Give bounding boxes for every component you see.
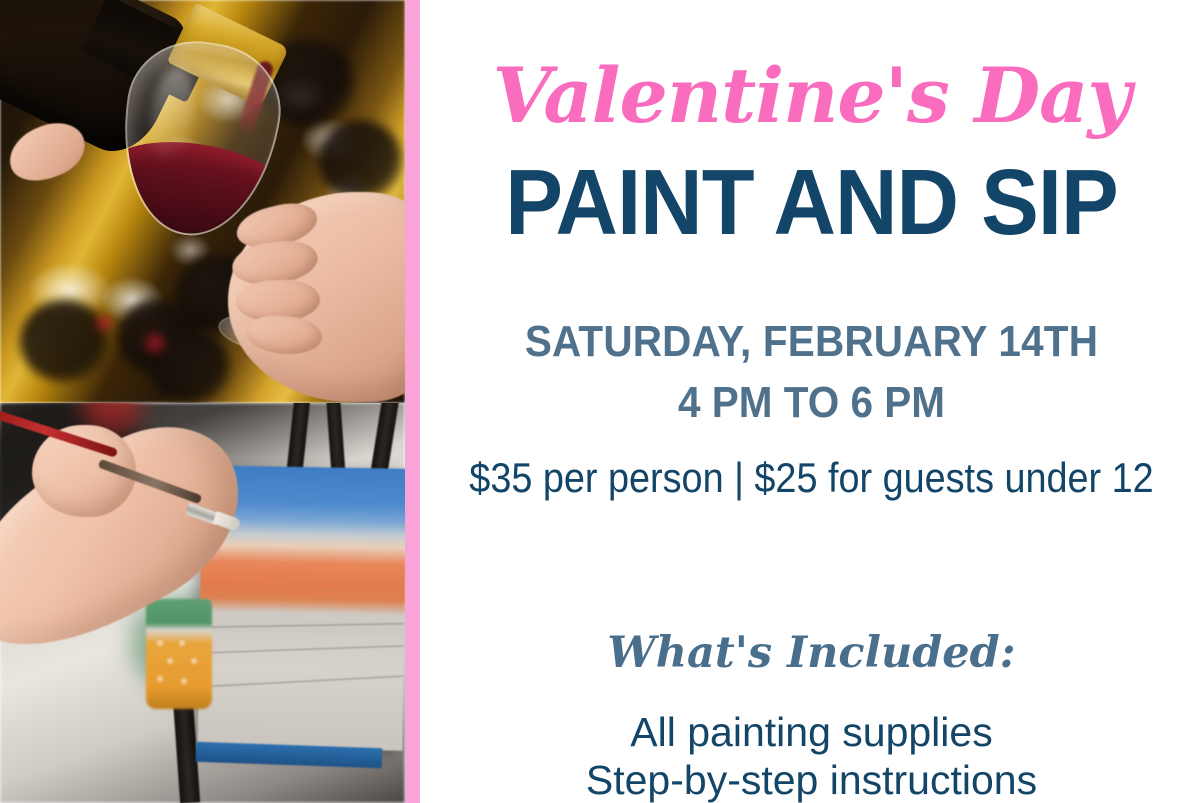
wine-pour-photo xyxy=(0,0,405,403)
event-time: 4 PM TO 6 PM xyxy=(451,376,1171,430)
script-title: Valentine's Day xyxy=(420,58,1203,134)
red-wine-accent xyxy=(140,330,170,356)
list-item: All painting supplies xyxy=(420,708,1203,756)
blurred-bottle-icon xyxy=(20,300,108,382)
red-wine-accent xyxy=(92,312,116,334)
pencil-sketch-line xyxy=(199,676,404,688)
whats-included-list: All painting supplies Step-by-step instr… xyxy=(420,708,1203,803)
cup-polka-dots xyxy=(150,635,208,701)
event-price: $35 per person | $25 for guests under 12 xyxy=(459,455,1164,501)
content-panel: Valentine's Day PAINT AND SIP SATURDAY, … xyxy=(420,0,1203,803)
photo-column xyxy=(0,0,405,803)
pink-divider-stripe xyxy=(405,0,420,803)
pencil-sketch-line xyxy=(199,645,404,653)
painting-photo xyxy=(0,403,405,803)
list-item: Step-by-step instructions xyxy=(420,756,1203,803)
whats-included-heading: What's Included: xyxy=(420,632,1203,675)
valentines-paint-and-sip-flyer: Valentine's Day PAINT AND SIP SATURDAY, … xyxy=(0,0,1203,803)
blurred-bottle-icon xyxy=(318,120,402,200)
page-title: PAINT AND SIP xyxy=(447,156,1175,249)
event-date: SATURDAY, FEBRUARY 14TH xyxy=(451,315,1171,369)
canvas-horizon xyxy=(200,605,405,635)
